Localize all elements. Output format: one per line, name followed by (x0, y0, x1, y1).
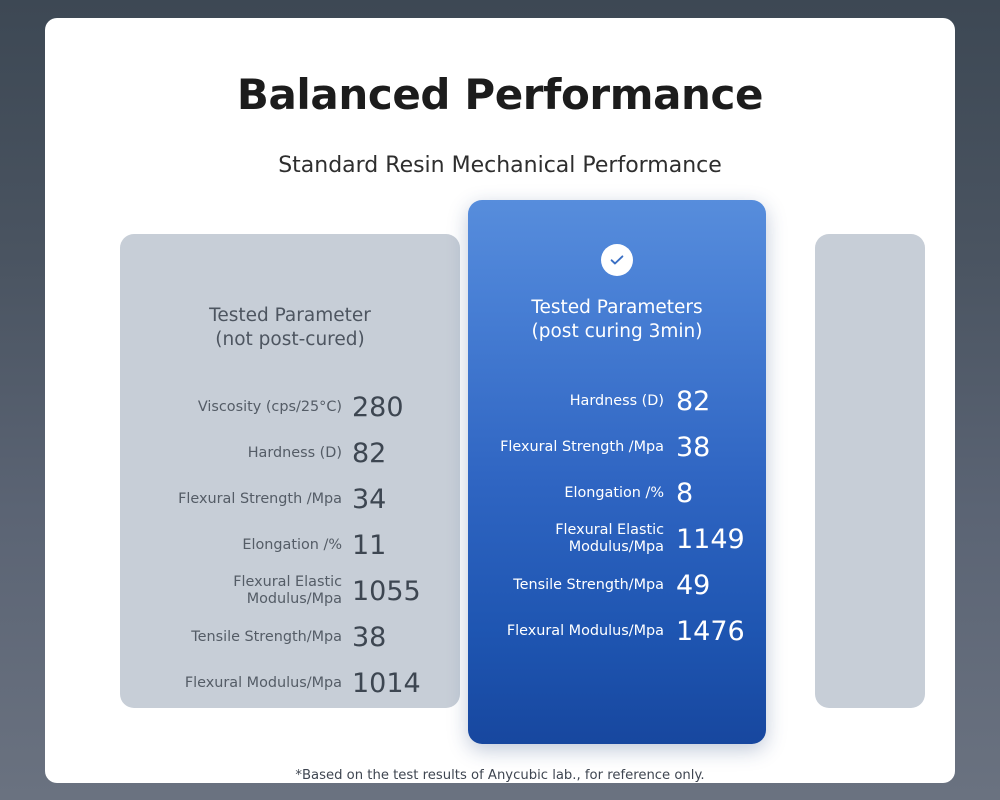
row-value: 38 (352, 622, 462, 653)
card-uncured-title-line2: (not post-cured) (120, 328, 460, 352)
card-cured-header: Tested Parameters (post curing 3min) (468, 296, 766, 345)
check-icon (601, 244, 633, 276)
row-label: Tensile Strength/Mpa (474, 577, 664, 594)
row-label: Viscosity (cps/25°C) (134, 399, 342, 416)
row-label: Flexural Modulus/Mpa (474, 623, 664, 640)
row-value: 1476 (676, 616, 768, 647)
row-label: Flexural Strength /Mpa (134, 491, 342, 508)
card-uncured-title-line1: Tested Parameter (120, 304, 460, 328)
table-row: Flexural Modulus/Mpa 1014 (120, 660, 460, 706)
footnote: *Based on the test results of Anycubic l… (45, 768, 955, 783)
row-label: Elongation /% (474, 485, 664, 502)
row-value: 280 (352, 392, 462, 423)
row-value: 38 (676, 432, 768, 463)
row-value: 49 (676, 570, 768, 601)
table-row: Flexural Strength /Mpa 38 (468, 424, 766, 470)
page-title: Balanced Performance (45, 70, 955, 119)
table-row: Elongation /% 11 (120, 522, 460, 568)
row-label: Hardness (D) (474, 393, 664, 410)
row-label: Elongation /% (134, 537, 342, 554)
card-uncured-header: Tested Parameter (not post-cured) (120, 304, 460, 353)
table-row: Flexural Elastic Modulus/Mpa 1055 (120, 568, 460, 614)
card-cured-parameters: Tested Parameters (post curing 3min) Har… (468, 200, 766, 744)
row-label: Flexural Elastic Modulus/Mpa (474, 522, 664, 556)
table-row: Viscosity (cps/25°C) 280 (120, 384, 460, 430)
card-uncured-parameters: Tested Parameter (not post-cured) Viscos… (120, 234, 460, 708)
card-cured-title-line2: (post curing 3min) (468, 320, 766, 344)
row-value: 82 (676, 386, 768, 417)
row-value: 1014 (352, 668, 462, 699)
row-value: 11 (352, 530, 462, 561)
table-row: Hardness (D) 82 (120, 430, 460, 476)
row-label: Flexural Strength /Mpa (474, 439, 664, 456)
card-uncured-rows: Viscosity (cps/25°C) 280 Hardness (D) 82… (120, 384, 460, 706)
table-row: Flexural Modulus/Mpa 1476 (468, 608, 766, 654)
table-row: Tensile Strength/Mpa 38 (120, 614, 460, 660)
decorative-panel-right (815, 234, 925, 708)
card-cured-rows: Hardness (D) 82 Flexural Strength /Mpa 3… (468, 378, 766, 654)
row-label: Hardness (D) (134, 445, 342, 462)
row-value: 1055 (352, 576, 462, 607)
page-subtitle: Standard Resin Mechanical Performance (45, 153, 955, 178)
row-value: 8 (676, 478, 768, 509)
table-row: Tensile Strength/Mpa 49 (468, 562, 766, 608)
row-value: 1149 (676, 524, 768, 555)
table-row: Hardness (D) 82 (468, 378, 766, 424)
table-row: Flexural Elastic Modulus/Mpa 1149 (468, 516, 766, 562)
content-panel: Balanced Performance Standard Resin Mech… (45, 18, 955, 783)
row-value: 82 (352, 438, 462, 469)
row-label: Tensile Strength/Mpa (134, 629, 342, 646)
card-cured-title-line1: Tested Parameters (468, 296, 766, 320)
table-row: Flexural Strength /Mpa 34 (120, 476, 460, 522)
row-label: Flexural Modulus/Mpa (134, 675, 342, 692)
row-value: 34 (352, 484, 462, 515)
row-label: Flexural Elastic Modulus/Mpa (134, 574, 342, 608)
table-row: Elongation /% 8 (468, 470, 766, 516)
